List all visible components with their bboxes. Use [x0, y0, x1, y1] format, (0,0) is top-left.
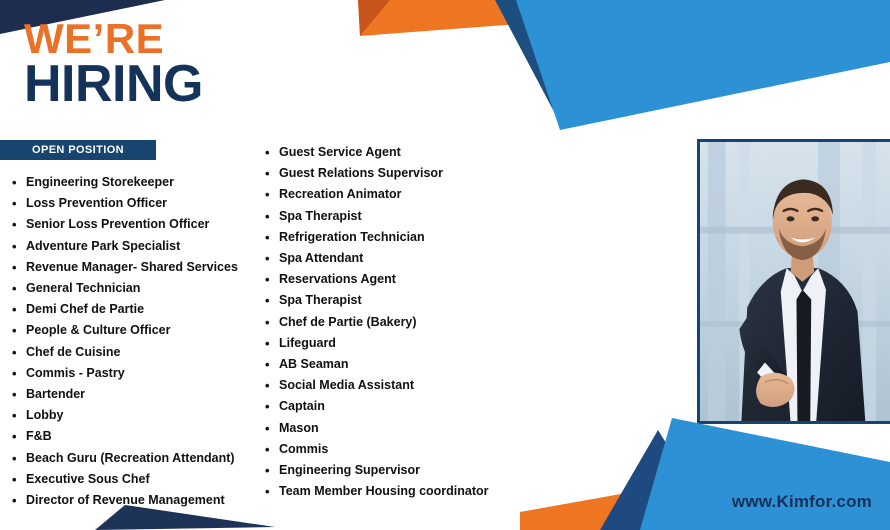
list-item: Commis - Pastry	[10, 363, 260, 384]
headline-were: WE’RE	[24, 20, 203, 59]
website-url[interactable]: www.Kimfor.com	[732, 492, 872, 512]
list-item: Commis	[263, 439, 563, 460]
list-item: AB Seaman	[263, 354, 563, 375]
top-blue-sweep	[460, 0, 890, 130]
job-list-left: Engineering Storekeeper Loss Prevention …	[10, 172, 260, 511]
footer-blue-wedge	[640, 418, 890, 530]
list-item: Demi Chef de Partie	[10, 299, 260, 320]
list-item: Refrigeration Technician	[263, 227, 563, 248]
list-item: Team Member Housing coordinator	[263, 481, 563, 502]
list-item: Spa Attendant	[263, 248, 563, 269]
list-item: Bartender	[10, 384, 260, 405]
list-item: General Technician	[10, 278, 260, 299]
open-position-badge: OPEN POSITION	[0, 140, 156, 160]
list-item: Recreation Animator	[263, 184, 563, 205]
list-item: Lifeguard	[263, 333, 563, 354]
list-item: Executive Sous Chef	[10, 469, 260, 490]
list-item: F&B	[10, 426, 260, 447]
list-item: Lobby	[10, 405, 260, 426]
list-item: Spa Therapist	[263, 206, 563, 227]
list-item: Adventure Park Specialist	[10, 236, 260, 257]
job-list-right: Guest Service Agent Guest Relations Supe…	[263, 142, 563, 502]
list-item: Engineering Storekeeper	[10, 172, 260, 193]
list-item: Spa Therapist	[263, 290, 563, 311]
list-item: Captain	[263, 396, 563, 417]
list-item: Director of Revenue Management	[10, 490, 260, 511]
list-item: Mason	[263, 418, 563, 439]
list-item: Chef de Cuisine	[10, 342, 260, 363]
list-item: Beach Guru (Recreation Attendant)	[10, 448, 260, 469]
businessman-photo	[697, 139, 890, 424]
list-item: Guest Service Agent	[263, 142, 563, 163]
list-item: People & Culture Officer	[10, 320, 260, 341]
list-item: Senior Loss Prevention Officer	[10, 214, 260, 235]
list-item: Revenue Manager- Shared Services	[10, 257, 260, 278]
list-item: Social Media Assistant	[263, 375, 563, 396]
list-item: Reservations Agent	[263, 269, 563, 290]
list-item: Loss Prevention Officer	[10, 193, 260, 214]
headline-hiring: HIRING	[24, 61, 203, 109]
hiring-poster: WE’RE HIRING OPEN POSITION Engineering S…	[0, 0, 890, 530]
list-item: Engineering Supervisor	[263, 460, 563, 481]
list-item: Chef de Partie (Bakery)	[263, 312, 563, 333]
businessman-photo-illustration	[700, 142, 890, 423]
list-item: Guest Relations Supervisor	[263, 163, 563, 184]
page-title: WE’RE HIRING	[24, 20, 203, 108]
